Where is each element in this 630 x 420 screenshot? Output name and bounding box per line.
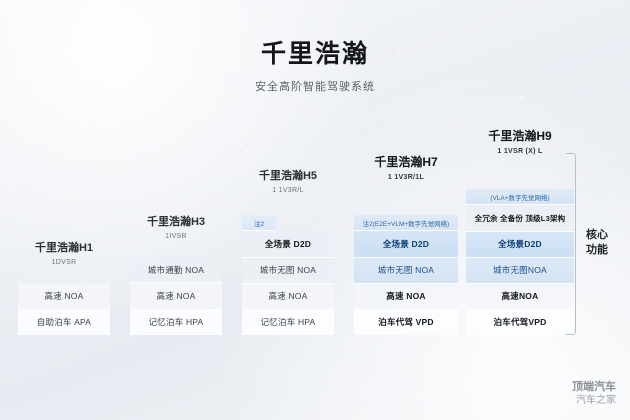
- page-title: 千里浩瀚: [0, 34, 630, 70]
- tier-rows-h7: 注2(E2E+VLM+数字先觉网络) 全场景 D2D 城市无图 NOA 高速 N…: [354, 215, 458, 335]
- feature-row: 高速 NOA: [18, 283, 110, 310]
- feature-row: 泊车代驾VPD: [466, 310, 574, 335]
- poster-canvas: 千里浩瀚 安全高阶智能驾驶系统 千里浩瀚H1 1DVSR 高速 NOA 自助泊车…: [0, 0, 630, 420]
- tier-column-h7[interactable]: 千里浩瀚H7 1 1V3R/1L 注2(E2E+VLM+数字先觉网络) 全场景 …: [354, 215, 458, 335]
- feature-row: 全场景D2D: [466, 232, 574, 258]
- speck-decoration: [330, 372, 332, 374]
- feature-row: 城市通勤 NOA: [130, 257, 222, 283]
- tier-column-h1[interactable]: 千里浩瀚H1 1DVSR 高速 NOA 自助泊车 APA: [18, 283, 110, 335]
- tier-header-h9: 千里浩瀚H9 1 1VSR (X) L: [466, 127, 574, 155]
- feature-row: 记忆泊车 HPA: [242, 310, 334, 335]
- tier-sub: 1 1VSR (X) L: [466, 148, 574, 155]
- core-function-label: 核心 功能: [580, 228, 614, 258]
- tier-header-h7: 千里浩瀚H7 1 1V3R/1L: [354, 153, 458, 181]
- core-label-line1: 核心: [580, 228, 614, 243]
- tier-name: 千里浩瀚H3: [130, 213, 222, 229]
- tier-column-h9[interactable]: 千里浩瀚H9 1 1VSR (X) L (VLA+数字先觉网络) 全冗余 全备份…: [466, 189, 574, 335]
- feature-note-badge: 注2(E2E+VLM+数字先觉网络): [354, 215, 458, 231]
- feature-row: 全场景 D2D: [242, 231, 334, 257]
- tier-sub: 1 1V3R/1L: [354, 174, 458, 181]
- speck-decoration: [470, 346, 472, 348]
- tier-name: 千里浩瀚H5: [242, 167, 334, 183]
- tier-header-h5: 千里浩瀚H5 1 1V3R/L: [242, 167, 334, 194]
- feature-row: 全场景 D2D: [354, 231, 458, 257]
- feature-row: 记忆泊车 HPA: [130, 310, 222, 335]
- feature-row: 全冗余 全备份 顶级L3架构: [466, 205, 574, 231]
- speck-decoration: [520, 96, 522, 98]
- tier-rows-h1: 高速 NOA 自助泊车 APA: [18, 283, 110, 335]
- feature-row: 城市无图NOA: [466, 258, 574, 284]
- tier-rows-h9: (VLA+数字先觉网络) 全冗余 全备份 顶级L3架构 全场景D2D 城市无图N…: [466, 189, 574, 335]
- core-function-bracket: [566, 153, 576, 335]
- page-subtitle: 安全高阶智能驾驶系统: [0, 78, 630, 94]
- tier-sub: 1 1V3R/L: [242, 187, 334, 194]
- tier-sub: 1IVSR: [130, 233, 222, 240]
- feature-row: 自助泊车 APA: [18, 310, 110, 336]
- tier-rows-h5: 注2 全场景 D2D 城市无图 NOA 高速 NOA 记忆泊车 HPA: [242, 215, 334, 335]
- watermark-line1: 顶端汽车: [572, 380, 616, 394]
- feature-row: 城市无图 NOA: [354, 258, 458, 284]
- tier-rows-h3: 城市通勤 NOA 高速 NOA 记忆泊车 HPA: [130, 257, 222, 335]
- feature-note-badge: (VLA+数字先觉网络): [466, 189, 574, 205]
- speck-decoration: [246, 150, 248, 152]
- tier-name: 千里浩瀚H9: [466, 127, 574, 144]
- tier-header-h3: 千里浩瀚H3 1IVSR: [130, 213, 222, 240]
- feature-row: 城市无图 NOA: [242, 258, 334, 284]
- feature-row: 高速NOA: [466, 284, 574, 310]
- speck-decoration: [96, 120, 98, 122]
- tier-name: 千里浩瀚H7: [354, 153, 458, 170]
- feature-note-badge: 注2: [242, 215, 276, 231]
- core-label-line2: 功能: [580, 243, 614, 258]
- speck-decoration: [578, 180, 580, 182]
- feature-row: 泊车代驾 VPD: [354, 310, 458, 335]
- watermark: 顶端汽车 汽车之家: [572, 380, 616, 408]
- feature-row: 高速 NOA: [354, 284, 458, 310]
- feature-row: 高速 NOA: [242, 284, 334, 310]
- tier-column-h5[interactable]: 千里浩瀚H5 1 1V3R/L 注2 全场景 D2D 城市无图 NOA 高速 N…: [242, 215, 334, 335]
- watermark-line2: 汽车之家: [572, 394, 616, 408]
- feature-row: 高速 NOA: [130, 283, 222, 309]
- tier-sub: 1DVSR: [18, 259, 110, 266]
- tier-name: 千里浩瀚H1: [18, 239, 110, 255]
- tier-header-h1: 千里浩瀚H1 1DVSR: [18, 239, 110, 266]
- tier-column-h3[interactable]: 千里浩瀚H3 1IVSR 城市通勤 NOA 高速 NOA 记忆泊车 HPA: [130, 257, 222, 335]
